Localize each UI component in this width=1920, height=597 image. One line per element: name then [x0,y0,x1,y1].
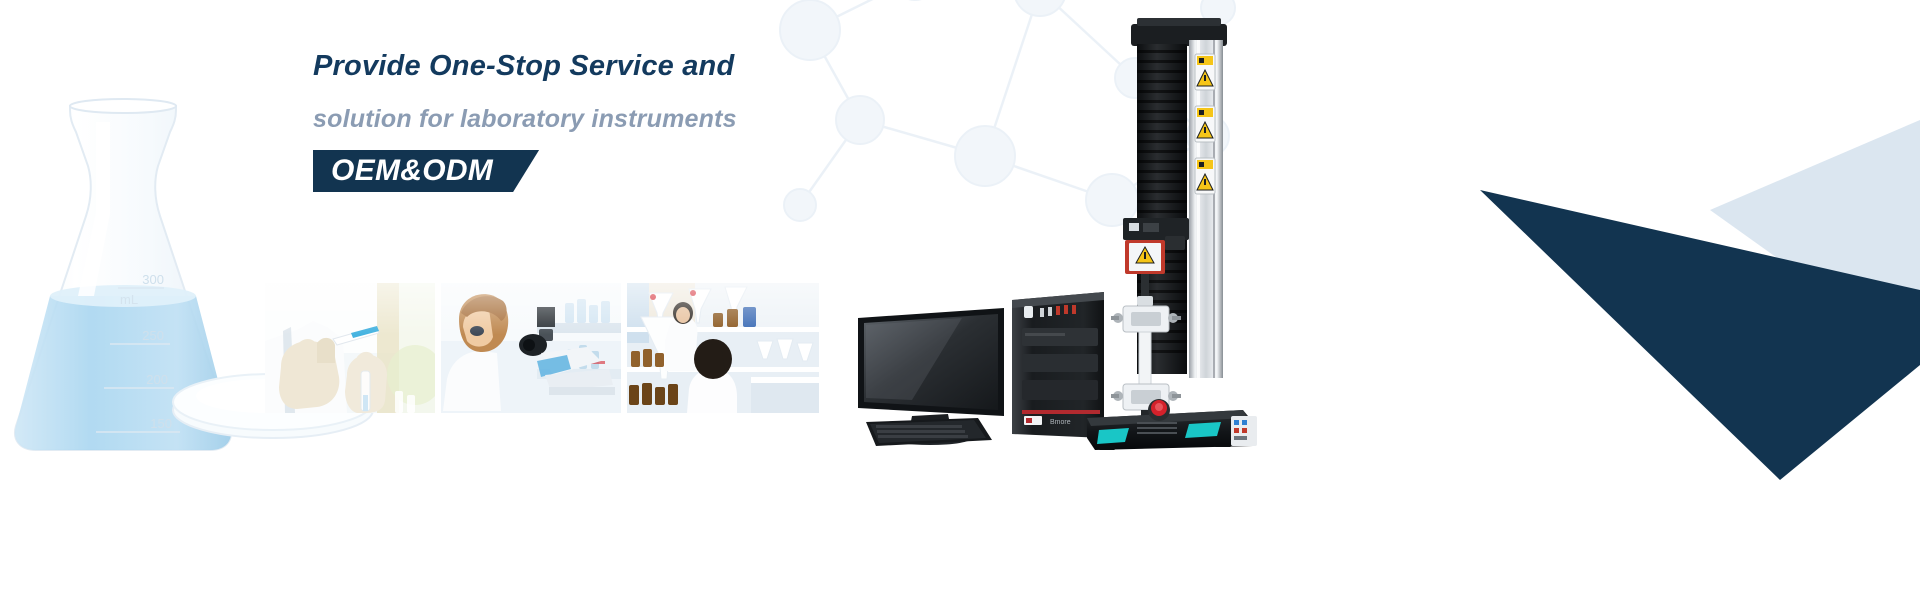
hero-banner: Provide One-Stop Service and solution fo… [0,0,1920,597]
svg-text:300: 300 [142,272,164,287]
machine-base [1087,399,1257,450]
photo-pipetting [265,283,435,413]
photo-lab-bench [627,283,819,413]
alt-text-photo-1: Gloved hands pipetting a blue sample int… [0,0,1,1]
headline-block: Provide One-Stop Service and solution fo… [313,52,1073,192]
photo-microscope [441,283,621,413]
arrow-light-shape [1380,120,1920,450]
alt-text-machine: Universal tensile testing machine with c… [0,0,1,1]
alt-text-flask: erlenmeyer-flask-with-blue-liquid [0,0,1,1]
svg-text:Bmore: Bmore [1050,419,1071,426]
page-subtitle: solution for laboratory instruments [313,107,1073,132]
oem-odm-badge: OEM&ODM [313,150,539,192]
alt-text-photo-2: Female researcher looking through a micr… [0,0,1,1]
alt-text-computer: Desktop PC with LCD monitor, tower case … [0,0,1,1]
svg-text:250: 250 [142,328,164,343]
arrow-dark-shape [1480,190,1920,480]
warning-label-group [1195,54,1215,194]
page-title: Provide One-Stop Service and [313,52,1073,81]
tensile-testing-machine-image [1085,18,1315,450]
photo-strip [265,283,819,413]
svg-text:200: 200 [146,372,168,387]
alt-text-photo-3: Two lab technicians working at a chemist… [0,0,1,1]
keyboard [866,418,992,446]
svg-text:mL: mL [120,292,138,307]
